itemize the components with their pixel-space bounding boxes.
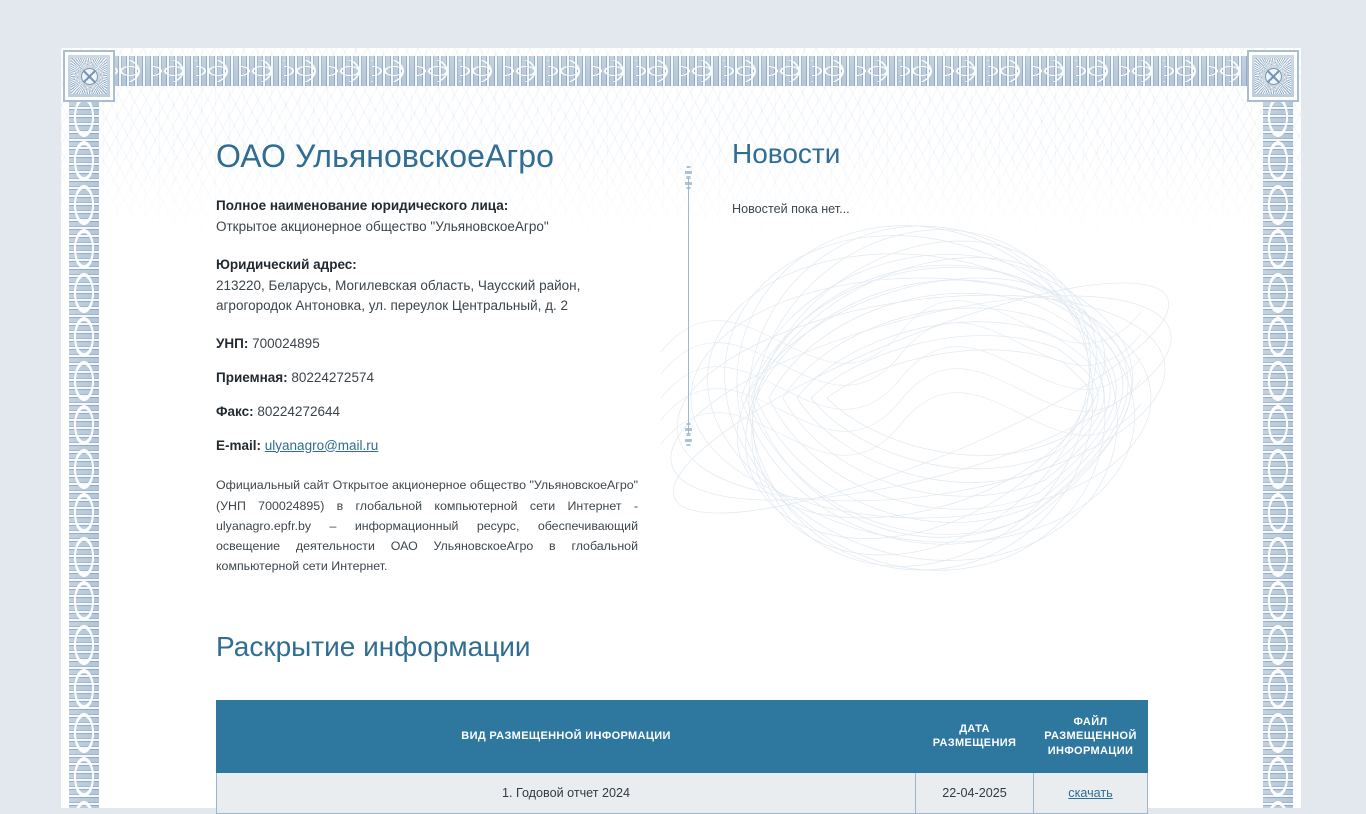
certificate-frame: ОАО УльяновскоеАгро Полное наименование … (61, 48, 1301, 808)
email-label: E-mail: (216, 438, 261, 453)
disclosure-table-wrapper: ВИД РАЗМЕЩЕННОЙ ИНФОРМАЦИИ ДАТА РАЗМЕЩЕН… (216, 700, 1148, 814)
cell-file: скачать (1034, 773, 1148, 814)
field-email: E-mail: ulyanagro@mail.ru (216, 436, 638, 457)
field-legal-address: Юридический адрес: 213220, Беларусь, Мог… (216, 255, 638, 317)
fax-label: Факс: (216, 404, 254, 419)
column-header-date: ДАТА РАЗМЕЩЕНИЯ (916, 700, 1034, 773)
column-header-kind: ВИД РАЗМЕЩЕННОЙ ИНФОРМАЦИИ (217, 700, 916, 773)
page-title: ОАО УльяновскоеАгро (216, 138, 638, 175)
reception-label: Приемная: (216, 370, 288, 385)
cell-kind: 1. Годовой отчет 2024 (217, 773, 916, 814)
address-line-2: агрогородок Антоновка, ул. переулок Цент… (216, 296, 638, 317)
download-link[interactable]: скачать (1068, 786, 1112, 800)
two-column-layout: ОАО УльяновскоеАгро Полное наименование … (216, 138, 1261, 577)
rosette-medallion-top-left (65, 52, 113, 100)
ornamental-border-right (1263, 95, 1293, 808)
disclosure-table: ВИД РАЗМЕЩЕННОЙ ИНФОРМАЦИИ ДАТА РАЗМЕЩЕН… (216, 700, 1148, 814)
unp-value: 700024895 (252, 336, 320, 351)
news-title: Новости (732, 138, 850, 170)
full-name-label: Полное наименование юридического лица: (216, 198, 508, 213)
table-row: 1. Годовой отчет 2024 22-04-2025 скачать (217, 773, 1148, 814)
news-empty-message: Новостей пока нет... (732, 202, 850, 216)
cell-date: 22-04-2025 (916, 773, 1034, 814)
address-line-1: 213220, Беларусь, Могилевская область, Ч… (216, 276, 638, 297)
main-content: ОАО УльяновскоеАгро Полное наименование … (216, 138, 1261, 814)
email-link[interactable]: ulyanagro@mail.ru (265, 438, 379, 453)
field-unp: УНП: 700024895 (216, 334, 638, 355)
rosette-medallion-top-right (1249, 52, 1297, 100)
about-paragraph: Официальный сайт Открытое акционерное об… (216, 475, 638, 576)
reception-value: 80224272574 (291, 370, 374, 385)
field-reception-phone: Приемная: 80224272574 (216, 368, 638, 389)
address-label: Юридический адрес: (216, 257, 357, 272)
column-header-file: ФАЙЛ РАЗМЕЩЕННОЙ ИНФОРМАЦИИ (1034, 700, 1148, 773)
table-header-row: ВИД РАЗМЕЩЕННОЙ ИНФОРМАЦИИ ДАТА РАЗМЕЩЕН… (217, 700, 1148, 773)
fax-value: 80224272644 (257, 404, 340, 419)
field-fax: Факс: 80224272644 (216, 402, 638, 423)
ornamental-border-top (108, 56, 1254, 86)
full-name-value: Открытое акционерное общество "Ульяновск… (216, 219, 549, 234)
field-full-name: Полное наименование юридического лица: О… (216, 196, 638, 238)
unp-label: УНП: (216, 336, 248, 351)
ornamental-vertical-divider (684, 166, 693, 446)
disclosure-title: Раскрытие информации (216, 631, 1261, 663)
news-column: Новости Новостей пока нет... (638, 138, 850, 577)
organization-info-column: ОАО УльяновскоеАгро Полное наименование … (216, 138, 638, 577)
ornamental-border-left (69, 95, 99, 808)
disclosure-section: Раскрытие информации ВИД РАЗМЕЩЕННОЙ ИНФ… (216, 631, 1261, 814)
